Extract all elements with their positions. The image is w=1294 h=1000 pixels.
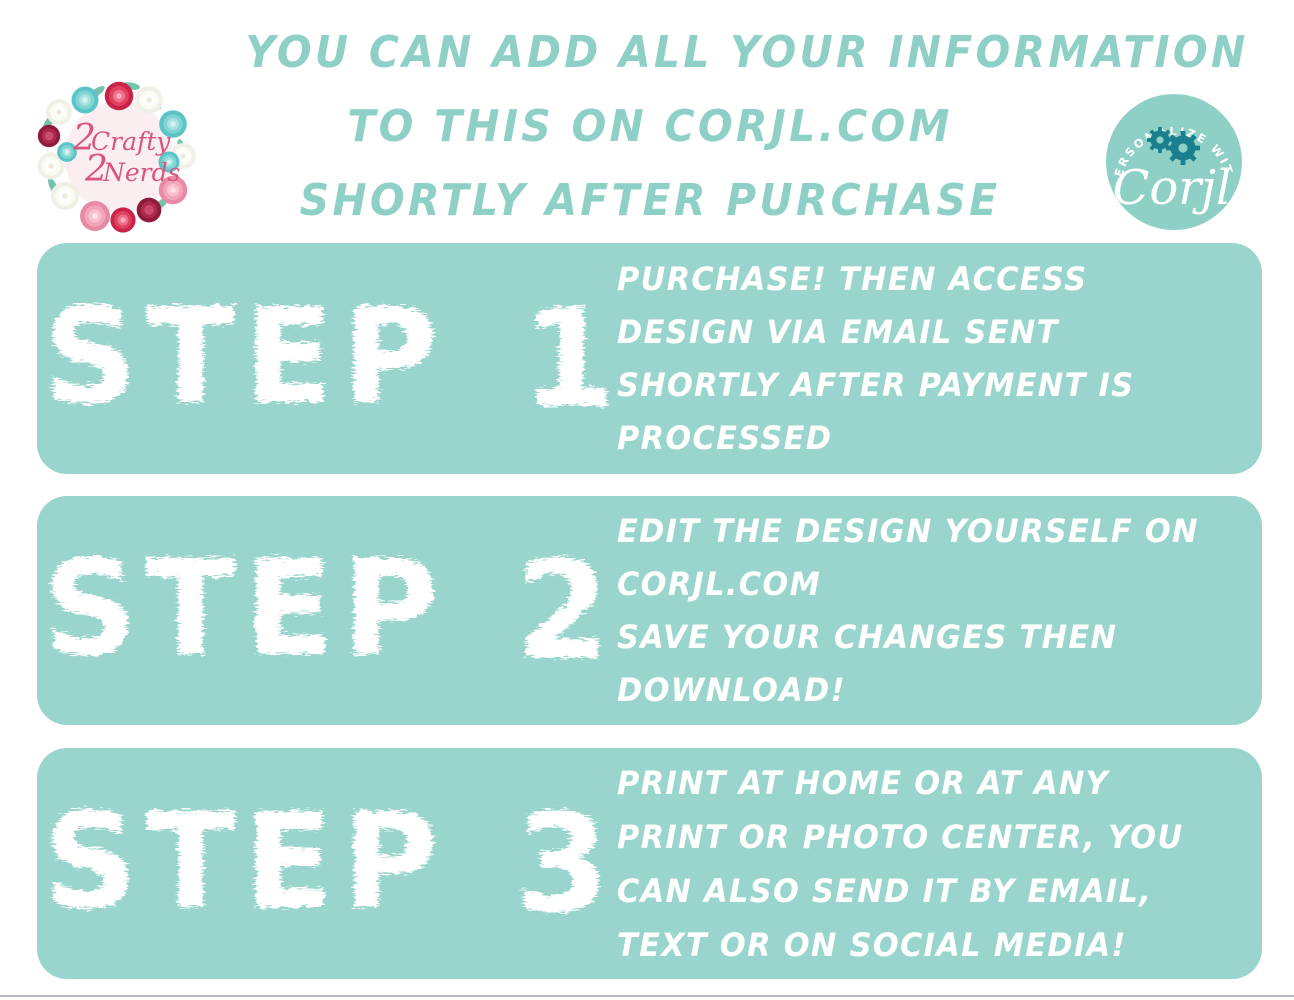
svg-text:Nerds: Nerds [102,158,180,187]
step-panel-1: STEP 1 PURCHASE! THEN ACCESS DESIGN VIA … [37,243,1262,474]
svg-text:3: 3 [515,786,610,941]
instruction-graphic: 2 Crafty 2 Nerds YOU CAN ADD ALL YOUR IN… [0,0,1294,1000]
step-panel-2: STEP 2 EDIT THE DESIGN YOURSELF ON CORJL… [37,496,1262,725]
step-3-line-3: CAN ALSO SEND IT BY EMAIL, [617,864,1216,918]
step-1-label: STEP 1 [37,243,617,474]
step-1-line-1: PURCHASE! THEN ACCESS [617,253,1216,306]
step-3-label: STEP 3 [37,748,617,979]
brand-logo: 2 Crafty 2 Nerds [33,78,205,233]
step-2-label: STEP 2 [37,496,617,725]
headline-line-2: TO THIS ON CORJL.COM [245,90,1054,164]
step-panel-3: STEP 3 PRINT AT HOME OR AT ANY PRINT OR … [37,748,1262,979]
svg-text:STEP: STEP [43,284,447,433]
step-3-line-4: TEXT OR ON SOCIAL MEDIA! [617,918,1216,972]
step-2-line-4: DOWNLOAD! [617,664,1216,717]
svg-text:STEP: STEP [43,536,447,685]
step-1-number: 1 [507,281,627,436]
headline-line-1: YOU CAN ADD ALL YOUR INFORMATION [245,16,1054,90]
badge-brand-text: Corjl [1113,160,1232,216]
step-3-number: 3 [507,786,627,941]
logo-wordmark: 2 Crafty 2 Nerds [72,118,180,190]
headline-line-3: SHORTLY AFTER PURCHASE [245,164,1054,238]
bottom-divider [0,995,1294,997]
personalize-with-corjl-badge: PERSONALIZE WITH [1104,92,1244,233]
step-3-line-1: PRINT AT HOME OR AT ANY [617,756,1216,810]
step-3-word: STEP [43,789,483,939]
step-2-line-2: CORJL.COM [617,558,1216,611]
svg-text:1: 1 [521,281,616,436]
step-1-word: STEP [43,284,483,434]
header: 2 Crafty 2 Nerds YOU CAN ADD ALL YOUR IN… [0,0,1294,236]
step-2-line-1: EDIT THE DESIGN YOURSELF ON [617,505,1216,558]
svg-text:STEP: STEP [43,789,447,938]
step-2-word: STEP [43,536,483,686]
headline: YOU CAN ADD ALL YOUR INFORMATION TO THIS… [245,16,1054,238]
step-1-line-4: PROCESSED [617,412,1216,465]
step-2-description: EDIT THE DESIGN YOURSELF ON CORJL.COM SA… [617,505,1230,717]
step-2-number: 2 [507,533,627,688]
step-1-description: PURCHASE! THEN ACCESS DESIGN VIA EMAIL S… [617,253,1230,465]
step-1-line-2: DESIGN VIA EMAIL SENT [617,306,1216,359]
step-1-line-3: SHORTLY AFTER PAYMENT IS [617,359,1216,412]
svg-text:2: 2 [515,533,610,688]
step-3-description: PRINT AT HOME OR AT ANY PRINT OR PHOTO C… [617,756,1230,972]
step-2-line-3: SAVE YOUR CHANGES THEN [617,611,1216,664]
step-3-line-2: PRINT OR PHOTO CENTER, YOU [617,810,1216,864]
